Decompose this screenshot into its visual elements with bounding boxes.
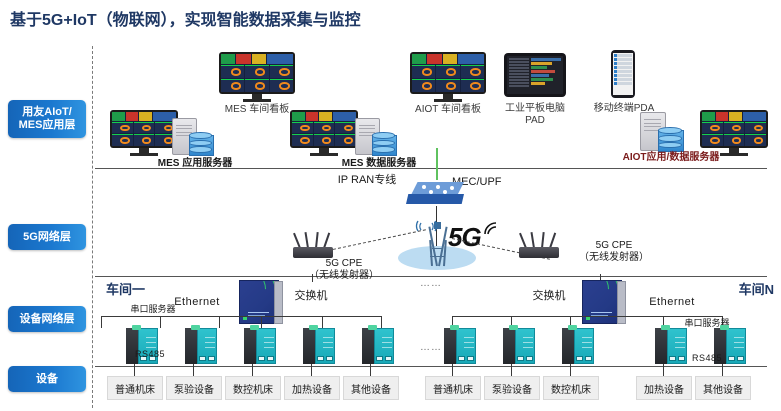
gauge-cell — [745, 122, 766, 134]
label-ip-ran: IP RAN专线 — [322, 174, 412, 186]
diagram-canvas: 基于5G+IoT（物联网），实现智能数据采集与监控 用友AIoT/ MES应用层… — [0, 0, 781, 411]
dashboard-gauge-row — [112, 122, 176, 134]
dashboard-kpi-row — [221, 54, 293, 64]
machine-left-2[interactable]: 泵验设备 — [166, 376, 222, 400]
gauge-cell — [292, 122, 313, 134]
kpi-tile-red — [126, 112, 139, 121]
ethernet-bus-left — [101, 316, 323, 317]
serial-server-left-2[interactable] — [185, 328, 217, 364]
gauge-cell — [436, 65, 459, 78]
machine-right-5[interactable]: 其他设备 — [695, 376, 751, 400]
cpe-router-right[interactable] — [519, 232, 559, 258]
label-rs485-right: RS485 — [684, 352, 730, 364]
dashboard-kpi-row — [412, 54, 484, 64]
switch-face — [239, 280, 279, 324]
cpe-body — [293, 247, 333, 258]
dashboard-screen — [112, 112, 176, 146]
bus-drop — [160, 316, 161, 328]
kpi-tile-red — [236, 54, 250, 64]
label-aiot-dashboard: AIOT 车间看板 — [404, 104, 492, 116]
cpe-to-switch-left — [312, 274, 313, 282]
label-cpe-left: 5G CPE （无线发射器） — [296, 258, 392, 282]
switch-face — [582, 280, 622, 324]
kpi-tile-yellow — [443, 54, 457, 64]
cpe-body — [519, 247, 559, 258]
gauge-cell — [412, 79, 435, 92]
sidebar-item-label: 用友AIoT/ MES应用层 — [19, 106, 76, 132]
gauge-cell — [461, 79, 484, 92]
monitor-bezel — [700, 110, 768, 148]
sidebar-item-layer-device[interactable]: 设备 — [8, 366, 86, 392]
dashboard-gauge-row — [702, 122, 766, 134]
bus-drop — [219, 316, 220, 328]
gauge-cell — [270, 79, 293, 92]
bus-drop — [381, 316, 382, 328]
sidebar-item-label: 设备网络层 — [20, 313, 75, 326]
serial-server-right-4[interactable] — [655, 328, 687, 364]
gauge-cell — [270, 65, 293, 78]
dashboard-screen — [292, 112, 356, 146]
gauge-cell — [314, 122, 335, 134]
gauge-cell — [221, 79, 244, 92]
dashboard-gauge-row — [702, 134, 766, 146]
label-rs485-left: RS485 — [127, 348, 173, 360]
gauge-cell — [245, 79, 268, 92]
serial-server-right-3[interactable] — [562, 328, 594, 364]
sidebar-item-layer-5g-network[interactable]: 5G网络层 — [8, 224, 86, 250]
rs485-drop — [663, 364, 664, 376]
monitor-aiot-server[interactable] — [700, 110, 768, 148]
dashboard-kpi-row — [292, 112, 356, 121]
layer-divider-vertical — [92, 46, 93, 408]
label-workshop-left: 车间一 — [106, 284, 156, 296]
rs485-drop — [370, 364, 371, 376]
label-mes-dashboard: MES 车间看板 — [213, 104, 301, 116]
sidebar-item-label: 设备 — [36, 373, 58, 386]
machine-left-5[interactable]: 其他设备 — [343, 376, 399, 400]
bus-drop — [101, 316, 102, 328]
serial-server-right-2[interactable] — [503, 328, 535, 364]
machine-right-3[interactable]: 数控机床 — [543, 376, 599, 400]
monitor-base — [310, 153, 338, 156]
label-switch-left: 交换机 — [285, 290, 337, 302]
tablet-industrial-pad[interactable] — [504, 53, 566, 97]
dashboard-kpi-row — [702, 112, 766, 121]
gauge-cell — [314, 134, 335, 146]
ellipsis-devices: …… — [420, 342, 442, 353]
label-aiot-server: AIOT应用/数据服务器 — [596, 152, 746, 164]
dashboard-gauge-row — [292, 122, 356, 134]
kpi-tile-yellow — [252, 54, 266, 64]
label-serial-server-left: 串口服务器 — [122, 303, 184, 315]
kpi-tile-green — [702, 112, 715, 121]
bus-drop — [322, 316, 323, 328]
machine-right-2[interactable]: 泵验设备 — [484, 376, 540, 400]
dashboard-screen — [412, 54, 484, 92]
serial-server-left-5[interactable] — [362, 328, 394, 364]
rs485-drop — [511, 364, 512, 376]
switch-side — [274, 281, 283, 324]
label-cpe-right: 5G CPE （无线发射器） — [566, 240, 662, 264]
gauge-cell — [245, 65, 268, 78]
router-mec-upf[interactable] — [406, 182, 468, 208]
kpi-tile-green — [221, 54, 235, 64]
dashboard-gauge-row — [412, 65, 484, 78]
monitor-base — [434, 99, 462, 102]
kpi-tile-yellow — [139, 112, 152, 121]
kpi-tile-red — [306, 112, 319, 121]
gauge-cell — [134, 134, 155, 146]
label-mes-data-server: MES 数据服务器 — [322, 158, 436, 170]
kpi-tile-red — [716, 112, 729, 121]
database-cylinder — [372, 132, 395, 157]
monitor-base — [243, 99, 271, 102]
rs485-drop — [311, 364, 312, 376]
dashboard-gauge-row — [221, 79, 293, 92]
kpi-tile-green — [412, 54, 426, 64]
bus-drop — [261, 316, 262, 328]
monitor-mes-dashboard[interactable] — [219, 52, 295, 94]
dashboard-gauge-row — [412, 79, 484, 92]
kpi-tile-red — [427, 54, 441, 64]
router-front-face — [406, 194, 464, 204]
uplink-green-line — [436, 148, 438, 180]
sidebar-item-layer-device-network[interactable]: 设备网络层 — [8, 306, 86, 332]
machine-right-1[interactable]: 普通机床 — [425, 376, 481, 400]
tablet-content-pane — [531, 58, 561, 92]
gauge-cell — [134, 122, 155, 134]
serial-server-left-3[interactable] — [244, 328, 276, 364]
gauge-cell — [412, 65, 435, 78]
monitor-bezel — [410, 52, 486, 94]
sidebar-item-label: 5G网络层 — [23, 231, 71, 244]
ethernet-bus-left-ext — [322, 316, 382, 317]
monitor-mes-data[interactable] — [290, 110, 358, 148]
dashboard-kpi-row — [112, 112, 176, 121]
monitor-bezel — [290, 110, 358, 148]
serial-server-right-1[interactable] — [444, 328, 476, 364]
machine-left-1[interactable]: 普通机床 — [107, 376, 163, 400]
dashboard-gauge-row — [292, 134, 356, 146]
dashboard-gauge-row — [112, 134, 176, 146]
phone-mobile-pda[interactable] — [611, 50, 635, 98]
wireless-link-left — [328, 229, 426, 251]
kpi-tile-blue — [333, 112, 356, 121]
layer-separator-2 — [95, 276, 767, 277]
gauge-cell — [112, 122, 133, 134]
rs485-drop — [134, 364, 135, 376]
page-title: 基于5G+IoT（物联网），实现智能数据采集与监控 — [10, 6, 361, 30]
label-workshop-right: 车间N — [718, 284, 774, 296]
server-mes-data[interactable] — [355, 118, 395, 158]
ellipsis-network: …… — [420, 278, 442, 289]
monitor-mes-app[interactable] — [110, 110, 178, 148]
switch-side — [617, 281, 626, 324]
gauge-cell — [702, 134, 723, 146]
tablet-nav-pane — [509, 58, 529, 92]
kpi-tile-green — [112, 112, 125, 121]
gauge-cell — [724, 134, 745, 146]
gauge-cell — [436, 79, 459, 92]
gauge-cell — [745, 134, 766, 146]
monitor-bezel — [110, 110, 178, 148]
kpi-tile-yellow — [319, 112, 332, 121]
serial-server-left-4[interactable] — [303, 328, 335, 364]
gauge-cell — [292, 134, 313, 146]
kpi-tile-blue — [267, 54, 293, 64]
gauge-cell — [335, 134, 356, 146]
gauge-cell — [335, 122, 356, 134]
rs485-drop — [193, 364, 194, 376]
dashboard-screen — [702, 112, 766, 146]
tablet-screen — [507, 56, 563, 94]
monitor-bezel — [219, 52, 295, 94]
monitor-base — [130, 153, 158, 156]
kpi-tile-yellow — [729, 112, 742, 121]
label-switch-right: 交换机 — [523, 290, 575, 302]
kpi-tile-green — [292, 112, 305, 121]
wifi-arc-icon — [484, 222, 498, 236]
kpi-tile-blue — [458, 54, 484, 64]
layer-separator-3 — [95, 366, 767, 367]
label-industrial-pad: 工业平板电脑 PAD — [500, 103, 570, 127]
phone-screen — [613, 53, 633, 95]
gauge-cell — [461, 65, 484, 78]
rs485-drop — [570, 364, 571, 376]
cpe-router-left[interactable] — [293, 232, 333, 258]
server-mes-app[interactable] — [172, 118, 212, 158]
label-mes-app-server: MES 应用服务器 — [140, 158, 250, 170]
label-ethernet-right: Ethernet — [640, 296, 704, 308]
rs485-drop — [252, 364, 253, 376]
database-cylinder — [658, 127, 682, 153]
server-aiot[interactable] — [640, 112, 682, 154]
gauge-cell — [724, 122, 745, 134]
rs485-drop — [722, 364, 723, 376]
monitor-aiot-dashboard[interactable] — [410, 52, 486, 94]
database-cylinder — [189, 132, 212, 157]
machine-right-4[interactable]: 加热设备 — [636, 376, 692, 400]
dashboard-gauge-row — [221, 65, 293, 78]
sidebar-item-layer-app[interactable]: 用友AIoT/ MES应用层 — [8, 100, 86, 138]
dashboard-screen — [221, 54, 293, 92]
machine-left-4[interactable]: 加热设备 — [284, 376, 340, 400]
gauge-cell — [702, 122, 723, 134]
gauge-cell — [112, 134, 133, 146]
machine-left-3[interactable]: 数控机床 — [225, 376, 281, 400]
gauge-cell — [221, 65, 244, 78]
rs485-drop — [452, 364, 453, 376]
kpi-tile-blue — [743, 112, 766, 121]
